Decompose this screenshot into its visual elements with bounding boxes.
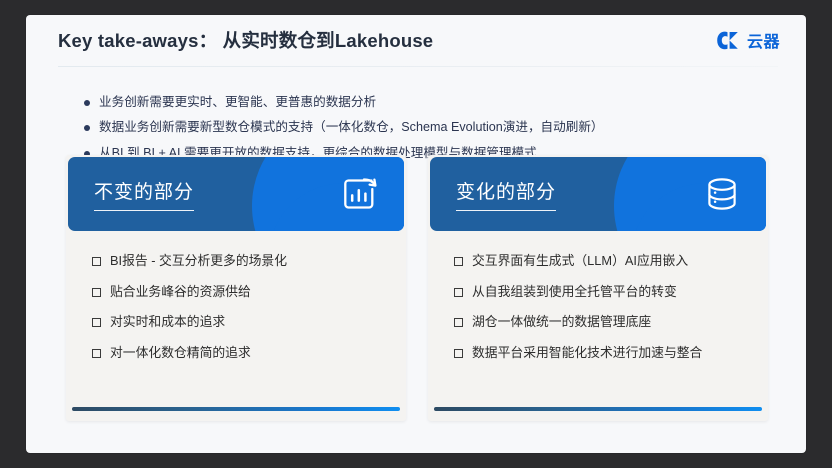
list-item: 对实时和成本的追求 xyxy=(92,314,390,331)
title-divider xyxy=(58,66,778,67)
item-text: 对实时和成本的追求 xyxy=(110,314,225,331)
bullet-text: 数据业务创新需要新型数仓模式的支持（一体化数仓，Schema Evolution… xyxy=(99,118,604,136)
checkbox-square-icon xyxy=(92,318,101,327)
card-header-inner: 变化的部分 xyxy=(430,157,766,231)
list-item: 对一体化数仓精简的追求 xyxy=(92,345,390,362)
card-header: 不变的部分 xyxy=(68,157,404,231)
yunqi-logo-icon xyxy=(716,31,742,50)
card-accent-bar xyxy=(434,407,762,411)
checkbox-square-icon xyxy=(454,288,463,297)
card-body: BI报告 - 交互分析更多的场景化 贴合业务峰谷的资源供给 对实时和成本的追求 … xyxy=(66,231,406,407)
checkbox-square-icon xyxy=(454,349,463,358)
card-accent-bar xyxy=(72,407,400,411)
slide-header: Key take-aways： 从实时数仓到Lakehouse 云器 xyxy=(26,15,806,67)
card-title: 不变的部分 xyxy=(94,177,194,211)
list-item: 从自我组装到使用全托管平台的转变 xyxy=(454,284,752,301)
item-text: 数据平台采用智能化技术进行加速与整合 xyxy=(472,345,702,362)
list-item: 数据业务创新需要新型数仓模式的支持（一体化数仓，Schema Evolution… xyxy=(84,118,604,136)
key-points-list: 业务创新需要更实时、更智能、更普惠的数据分析 数据业务创新需要新型数仓模式的支持… xyxy=(84,93,604,162)
bullet-text: 业务创新需要更实时、更智能、更普惠的数据分析 xyxy=(99,93,376,111)
checkbox-square-icon xyxy=(92,349,101,358)
checkbox-square-icon xyxy=(454,257,463,266)
item-text: 湖仓一体做统一的数据管理底座 xyxy=(472,314,651,331)
checkbox-square-icon xyxy=(454,318,463,327)
card-changing: 变化的部分 交互界面有生成式（LLM）AI应用嵌入 xyxy=(428,155,768,421)
database-icon xyxy=(700,172,744,216)
slide: Key take-aways： 从实时数仓到Lakehouse 云器 业务创新需… xyxy=(26,15,806,453)
checkbox-square-icon xyxy=(92,288,101,297)
card-header: 变化的部分 xyxy=(430,157,766,231)
list-item: 贴合业务峰谷的资源供给 xyxy=(92,284,390,301)
item-text: 交互界面有生成式（LLM）AI应用嵌入 xyxy=(472,253,688,270)
item-text: 从自我组装到使用全托管平台的转变 xyxy=(472,284,677,301)
page-title: Key take-aways： 从实时数仓到Lakehouse xyxy=(58,27,433,53)
card-header-inner: 不变的部分 xyxy=(68,157,404,231)
list-item: BI报告 - 交互分析更多的场景化 xyxy=(92,253,390,270)
brand-logo: 云器 xyxy=(716,28,780,52)
card-unchanged: 不变的部分 BI报告 - 交互分析更多 xyxy=(66,155,406,421)
checkbox-square-icon xyxy=(92,257,101,266)
bullet-dot-icon xyxy=(84,100,90,106)
list-item: 业务创新需要更实时、更智能、更普惠的数据分析 xyxy=(84,93,604,111)
item-text: 贴合业务峰谷的资源供给 xyxy=(110,284,251,301)
bar-chart-arrow-icon xyxy=(338,172,382,216)
cards-container: 不变的部分 BI报告 - 交互分析更多 xyxy=(66,155,768,421)
item-text: BI报告 - 交互分析更多的场景化 xyxy=(110,253,287,270)
item-text: 对一体化数仓精简的追求 xyxy=(110,345,251,362)
list-item: 湖仓一体做统一的数据管理底座 xyxy=(454,314,752,331)
slide-stage: Key take-aways： 从实时数仓到Lakehouse 云器 业务创新需… xyxy=(0,0,832,468)
list-item: 数据平台采用智能化技术进行加速与整合 xyxy=(454,345,752,362)
card-body: 交互界面有生成式（LLM）AI应用嵌入 从自我组装到使用全托管平台的转变 湖仓一… xyxy=(428,231,768,407)
list-item: 交互界面有生成式（LLM）AI应用嵌入 xyxy=(454,253,752,270)
brand-name: 云器 xyxy=(747,28,780,52)
card-title: 变化的部分 xyxy=(456,177,556,211)
bullet-dot-icon xyxy=(84,125,90,131)
